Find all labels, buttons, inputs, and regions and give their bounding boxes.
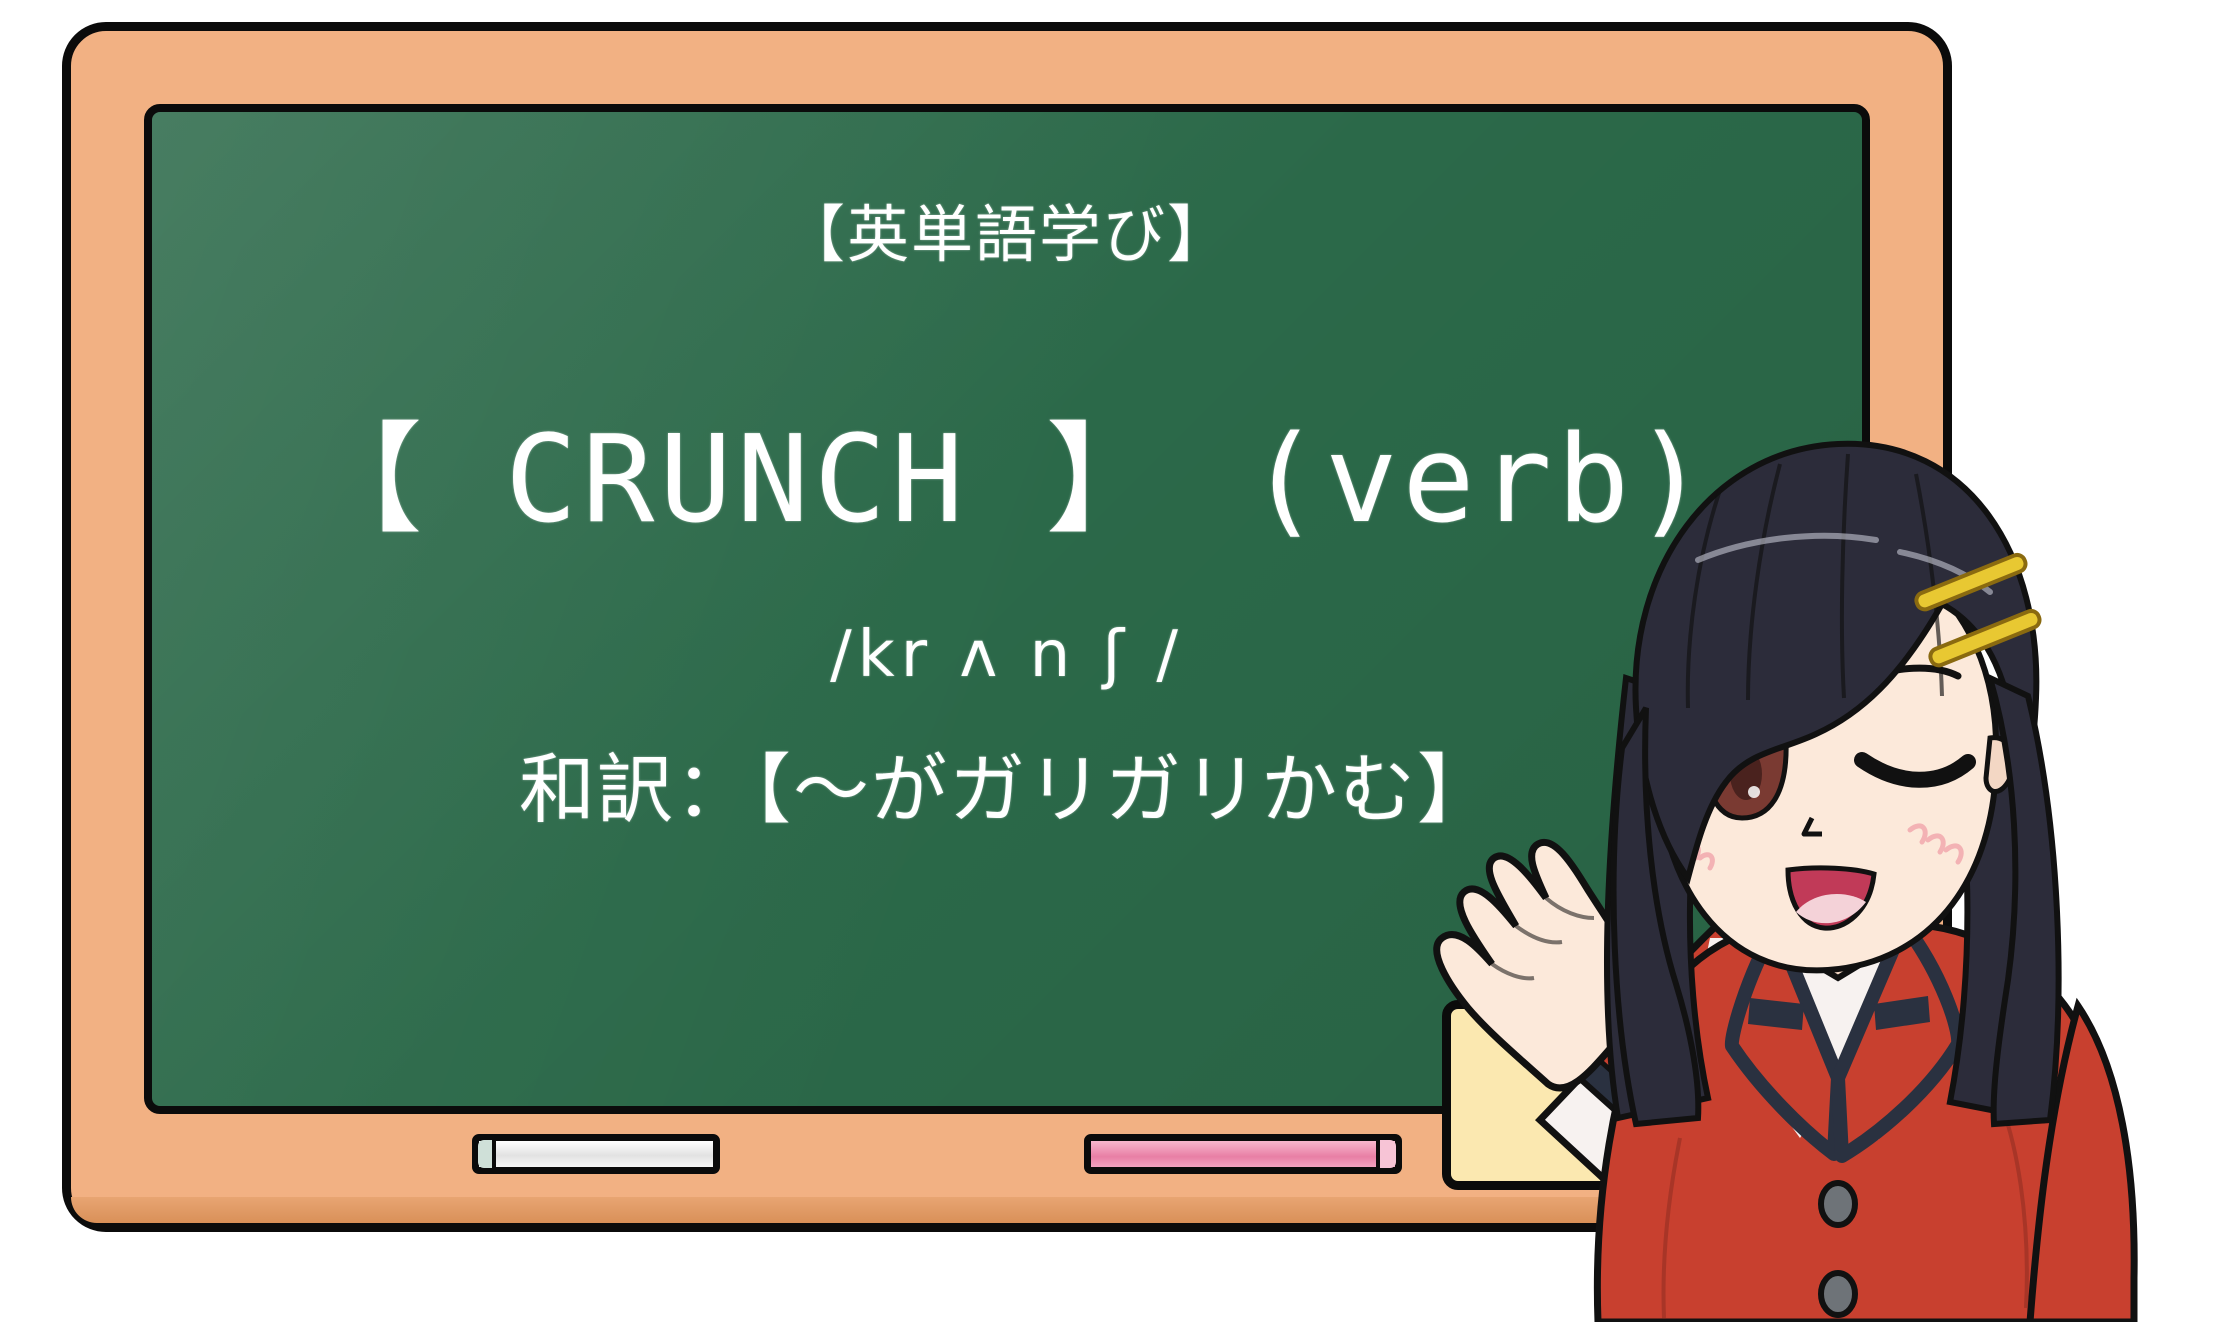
- blazer-button-top: [1821, 1183, 1855, 1225]
- lesson-header: 【英単語学び】: [783, 184, 1231, 274]
- flashcard-canvas: 【英単語学び】 【 CRUNCH 】 (verb) /kr ʌ n ʃ / 和訳…: [0, 0, 2218, 1322]
- teacher-character: [1430, 378, 2218, 1322]
- blazer-button-bottom: [1821, 1273, 1855, 1315]
- japanese-translation-line: 和訳：【〜がガリガリかむ】: [519, 728, 1495, 838]
- phonetic-transcription: /kr ʌ n ʃ /: [830, 618, 1184, 692]
- pink-chalk[interactable]: [1084, 1134, 1402, 1174]
- white-chalk[interactable]: [472, 1134, 720, 1174]
